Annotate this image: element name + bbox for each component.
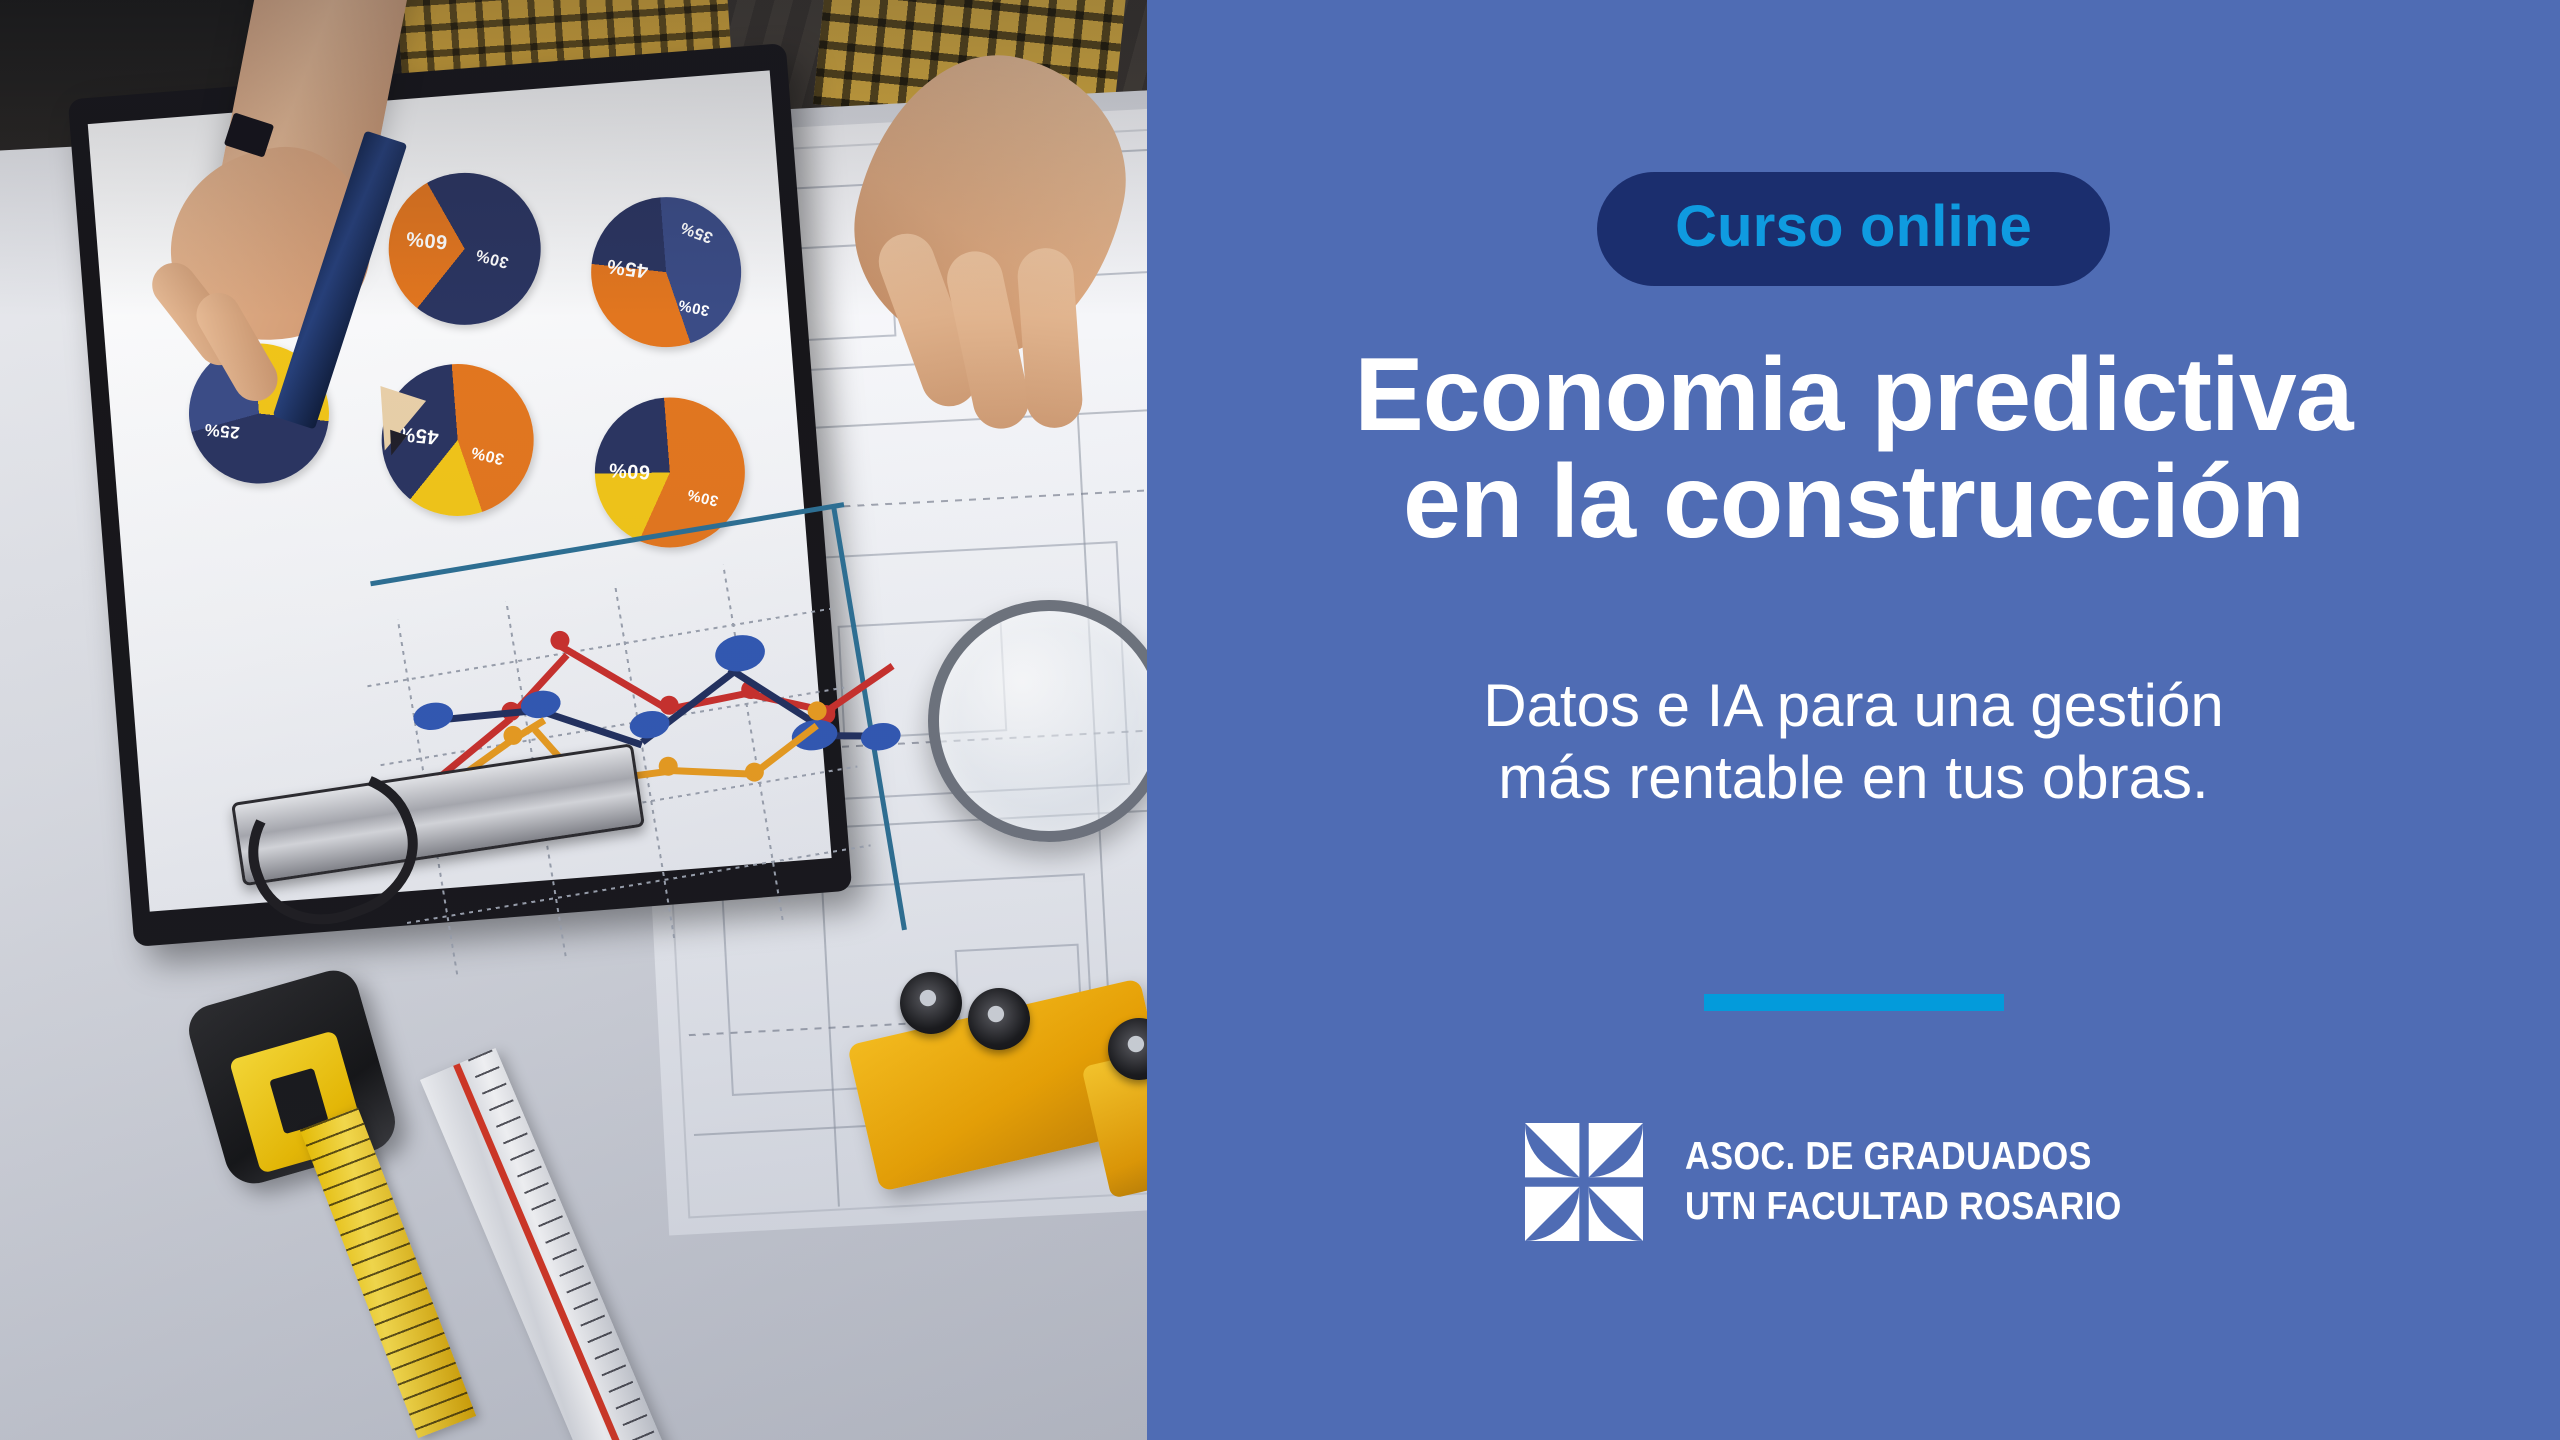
clipboard: 55% 45% 60% 30% 45% 35% 30% 25% 45% — [68, 43, 852, 947]
organization-logo: ASOC. DE GRADUADOS UTN FACULTAD ROSARIO — [1525, 1123, 2181, 1241]
organization-line-2: UTN FACULTAD ROSARIO — [1685, 1182, 2122, 1232]
subtitle-line-2: más rentable en tus obras. — [1498, 744, 2208, 811]
toy-truck-wheel — [900, 972, 962, 1034]
headline-line-2: en la construcción — [1403, 444, 2304, 560]
pie-chart-3: 45% 35% 30% — [585, 191, 746, 352]
accent-divider — [1704, 994, 2004, 1011]
organization-line-1: ASOC. DE GRADUADOS — [1685, 1132, 2122, 1182]
pie-chart-2: 60% 30% — [383, 167, 546, 330]
utn-logo-icon — [1525, 1123, 1643, 1241]
hero-photo: 55% 45% 60% 30% 45% 35% 30% 25% 45% — [0, 0, 1147, 1440]
pie-chart-6: 60% 30% — [589, 392, 750, 553]
page-title: Economia predictiva en la construcción — [1354, 342, 2352, 556]
headline-line-1: Economia predictiva — [1354, 337, 2352, 453]
info-panel: Curso online Economia predictiva en la c… — [1147, 0, 2560, 1440]
course-type-badge: Curso online — [1597, 172, 2110, 286]
promo-banner: 55% 45% 60% 30% 45% 35% 30% 25% 45% — [0, 0, 2560, 1440]
organization-name: ASOC. DE GRADUADOS UTN FACULTAD ROSARIO — [1685, 1132, 2122, 1232]
toy-truck-wheel — [968, 988, 1030, 1050]
subtitle: Datos e IA para una gestión más rentable… — [1483, 670, 2224, 814]
subtitle-line-1: Datos e IA para una gestión — [1483, 672, 2224, 739]
